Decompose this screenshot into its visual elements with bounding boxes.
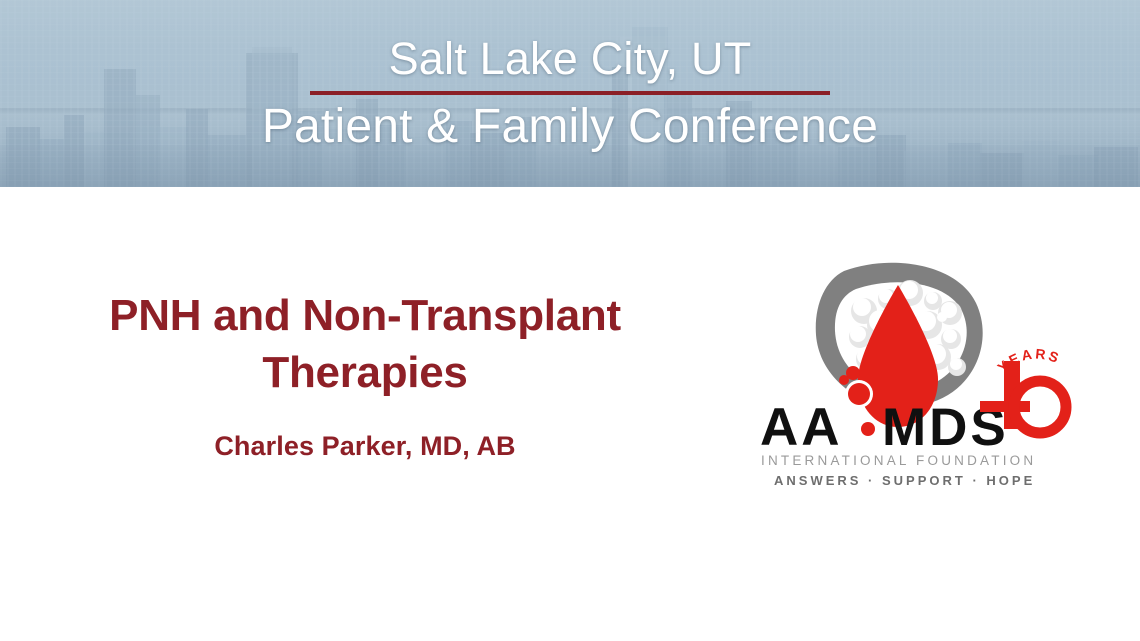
aamds-logo: AA MDS YEARS INTERNATIONAL FOUNDATION AN…: [752, 249, 1072, 489]
logo-tagline-values: ANSWERS · SUPPORT · HOPE: [774, 473, 1035, 488]
wordmark-dot: [861, 422, 875, 436]
presentation-title: PNH and Non-Transplant Therapies: [28, 287, 702, 401]
logo-wordmark: AA MDS: [760, 398, 1009, 457]
conference-name: Patient & Family Conference: [262, 103, 878, 151]
banner-divider-rule: [310, 91, 830, 95]
slide-body: PNH and Non-Transplant Therapies Charles…: [0, 187, 1140, 641]
wordmark-aa: AA: [760, 398, 843, 457]
title-block: PNH and Non-Transplant Therapies Charles…: [28, 287, 702, 462]
aamds-logo-graphic: AA MDS YEARS INTERNATIONAL FOUNDATION AN…: [752, 249, 1072, 489]
anniversary-word: YEARS: [994, 345, 1063, 375]
presenter-name: Charles Parker, MD, AB: [28, 431, 702, 462]
logo-tagline-foundation: INTERNATIONAL FOUNDATION: [761, 453, 1036, 468]
conference-banner: Salt Lake City, UT Patient & Family Conf…: [0, 0, 1140, 187]
conference-city: Salt Lake City, UT: [389, 36, 752, 81]
banner-text-group: Salt Lake City, UT Patient & Family Conf…: [0, 0, 1140, 187]
